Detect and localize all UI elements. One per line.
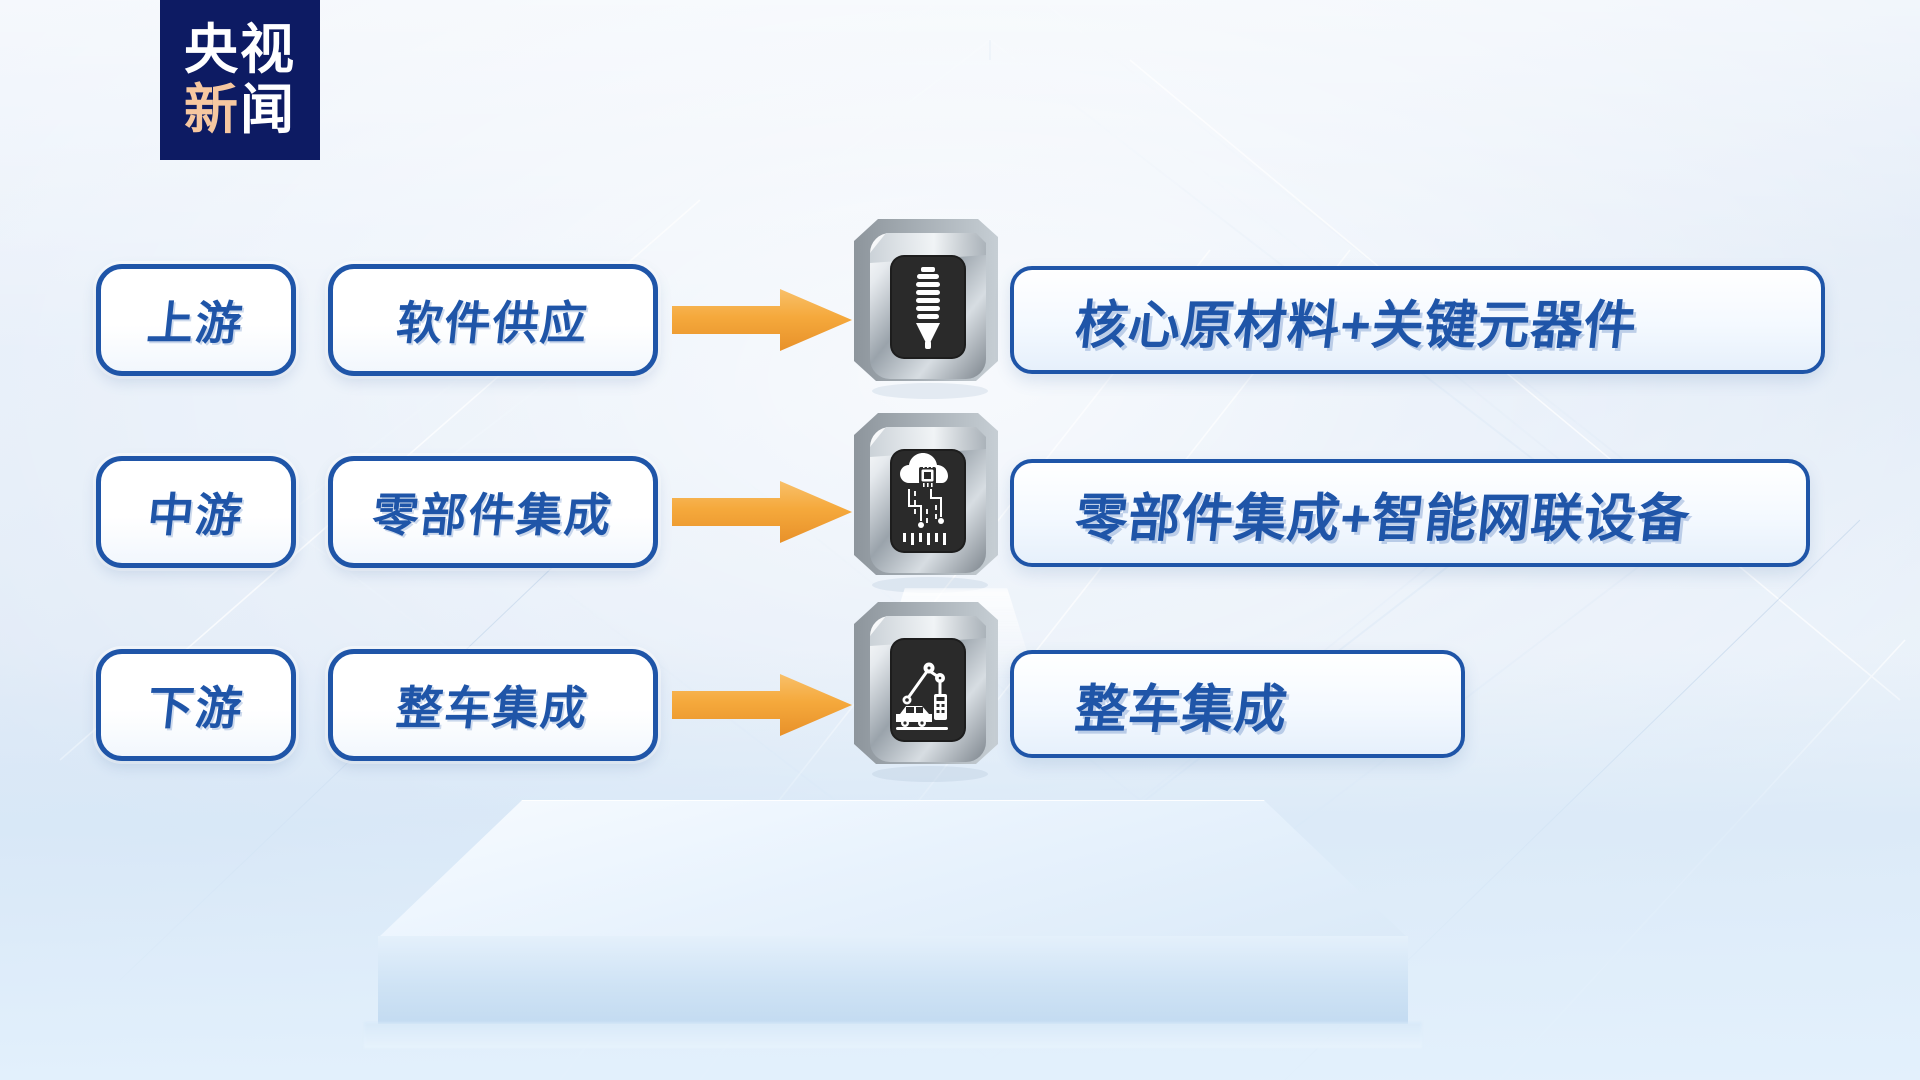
- role-pill-parts-integration[interactable]: 零部件集成: [328, 456, 658, 568]
- banner-midstream[interactable]: 零部件集成+智能网联设备: [1010, 459, 1810, 567]
- stage-pill-downstream[interactable]: 下游: [96, 649, 296, 761]
- chain-row-downstream: 下游 整车集成: [0, 640, 1920, 770]
- supply-chain-diagram: 上游 软件供应: [0, 0, 1920, 1080]
- stage-pill-midstream-label: 中游: [145, 479, 248, 545]
- stage-pill-upstream-label: 上游: [145, 287, 248, 353]
- arrow-right-icon-row3: [672, 674, 852, 736]
- stage-pill-midstream[interactable]: 中游: [96, 456, 296, 568]
- banner-midstream-label: 零部件集成+智能网联设备: [1072, 476, 1694, 551]
- device-monitor-downstream: [848, 594, 1008, 784]
- role-pill-vehicle-integration-label: 整车集成: [394, 672, 593, 738]
- role-pill-software-supply[interactable]: 软件供应: [328, 264, 658, 376]
- chain-row-midstream: 中游 零部件集成: [0, 447, 1920, 577]
- stage-pill-upstream[interactable]: 上游: [96, 264, 296, 376]
- banner-downstream-label: 整车集成: [1072, 667, 1292, 742]
- device-monitor-midstream: [848, 405, 1008, 595]
- role-pill-software-supply-label: 软件供应: [394, 287, 593, 353]
- banner-upstream-label: 核心原材料+关键元器件: [1072, 283, 1641, 358]
- device-monitor-upstream: [848, 211, 1008, 401]
- banner-upstream[interactable]: 核心原材料+关键元器件: [1010, 266, 1825, 374]
- banner-downstream[interactable]: 整车集成: [1010, 650, 1465, 758]
- stage-pill-downstream-label: 下游: [145, 672, 248, 738]
- arrow-right-icon-row2: [672, 481, 852, 543]
- arrow-right-icon-row1: [672, 289, 852, 351]
- role-pill-vehicle-integration[interactable]: 整车集成: [328, 649, 658, 761]
- role-pill-parts-integration-label: 零部件集成: [370, 479, 617, 545]
- chain-row-upstream: 上游 软件供应: [0, 255, 1920, 385]
